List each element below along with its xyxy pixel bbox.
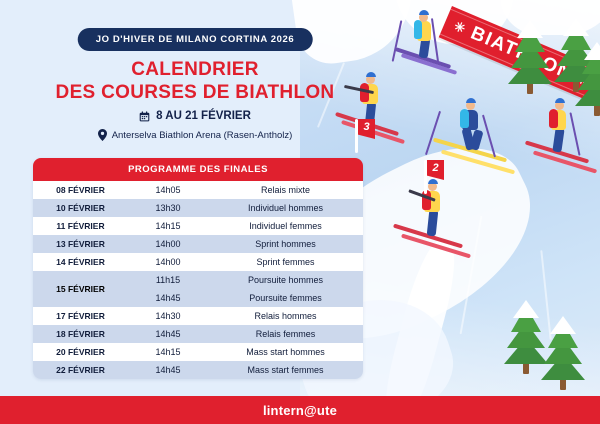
footer-bar: lintern@ute [0, 396, 600, 424]
pine-tree [538, 310, 588, 390]
row-time: 14h30 [128, 307, 208, 325]
biathlete-figure [448, 96, 522, 174]
row-date: 14 FÉVRIER [33, 253, 128, 271]
table-row: 14h45 Poursuite femmes [128, 289, 363, 307]
map-pin-icon [98, 129, 107, 141]
row-event: Individuel hommes [208, 199, 363, 217]
pine-tree [508, 18, 552, 94]
table-row: 18 FÉVRIER 14h45 Relais femmes [33, 325, 363, 343]
row-date: 22 FÉVRIER [33, 361, 128, 379]
content-column: JO D'HIVER DE MILANO CORTINA 2026 CALEND… [0, 0, 390, 400]
table-row: 22 FÉVRIER 14h45 Mass start femmes [33, 361, 363, 379]
row-time: 14h00 [128, 253, 208, 271]
row-date: 18 FÉVRIER [33, 325, 128, 343]
row-date: 08 FÉVRIER [33, 181, 128, 199]
table-row-merged: 15 FÉVRIER 11h15 Poursuite hommes 14h45 … [33, 271, 363, 307]
table-row: 17 FÉVRIER 14h30 Relais hommes [33, 307, 363, 325]
row-time: 14h00 [128, 235, 208, 253]
row-event: Relais hommes [208, 307, 363, 325]
table-row: 11 FÉVRIER 14h15 Individuel femmes [33, 217, 363, 235]
title-line-1: CALENDRIER [131, 59, 259, 80]
row-event: Mass start femmes [208, 361, 363, 379]
row-date: 20 FÉVRIER [33, 343, 128, 361]
biathlete-figure [540, 96, 600, 168]
biathlete-figure [412, 176, 482, 250]
row-event: Individuel femmes [208, 217, 363, 235]
row-time: 11h15 [128, 271, 208, 289]
venue: Anterselva Biathlon Arena (Rasen-Antholz… [0, 129, 390, 141]
row-time: 14h45 [128, 289, 208, 307]
table-header: PROGRAMME DES FINALES [33, 158, 363, 181]
row-event: Poursuite femmes [208, 289, 363, 307]
row-event: Mass start hommes [208, 343, 363, 361]
row-date: 15 FÉVRIER [33, 271, 128, 307]
row-event: Sprint hommes [208, 235, 363, 253]
table-row: 14 FÉVRIER 14h00 Sprint femmes [33, 253, 363, 271]
row-event: Poursuite hommes [208, 271, 363, 289]
table-row: 13 FÉVRIER 14h00 Sprint hommes [33, 235, 363, 253]
row-date: 17 FÉVRIER [33, 307, 128, 325]
date-range-label: 8 AU 21 FÉVRIER [156, 110, 251, 122]
row-event: Sprint femmes [208, 253, 363, 271]
table-row: 11h15 Poursuite hommes [128, 271, 363, 289]
row-time: 14h15 [128, 343, 208, 361]
row-date: 13 FÉVRIER [33, 235, 128, 253]
poster: ✳ BIATHLON ✳ [0, 0, 600, 424]
linternaute-logo: lintern@ute [263, 403, 337, 418]
table-row: 10 FÉVRIER 13h30 Individuel hommes [33, 199, 363, 217]
schedule-table: PROGRAMME DES FINALES 08 FÉVRIER 14h05 R… [33, 158, 363, 379]
venue-label: Anterselva Biathlon Arena (Rasen-Antholz… [112, 130, 293, 141]
event-badge: JO D'HIVER DE MILANO CORTINA 2026 [78, 28, 313, 51]
date-range: 8 AU 21 FÉVRIER [0, 110, 390, 122]
biathlete-figure [408, 8, 468, 70]
row-date: 10 FÉVRIER [33, 199, 128, 217]
row-date: 11 FÉVRIER [33, 217, 128, 235]
row-time: 14h45 [128, 361, 208, 379]
row-time: 14h05 [128, 181, 208, 199]
row-time: 14h45 [128, 325, 208, 343]
row-event: Relais mixte [208, 181, 363, 199]
row-event: Relais femmes [208, 325, 363, 343]
row-time: 13h30 [128, 199, 208, 217]
calendar-icon [139, 111, 150, 122]
table-row: 20 FÉVRIER 14h15 Mass start hommes [33, 343, 363, 361]
table-row: 08 FÉVRIER 14h05 Relais mixte [33, 181, 363, 199]
row-time: 14h15 [128, 217, 208, 235]
title-line-2: DES COURSES DE BIATHLON [0, 81, 390, 104]
page-title: CALENDRIER DES COURSES DE BIATHLON [0, 58, 390, 104]
